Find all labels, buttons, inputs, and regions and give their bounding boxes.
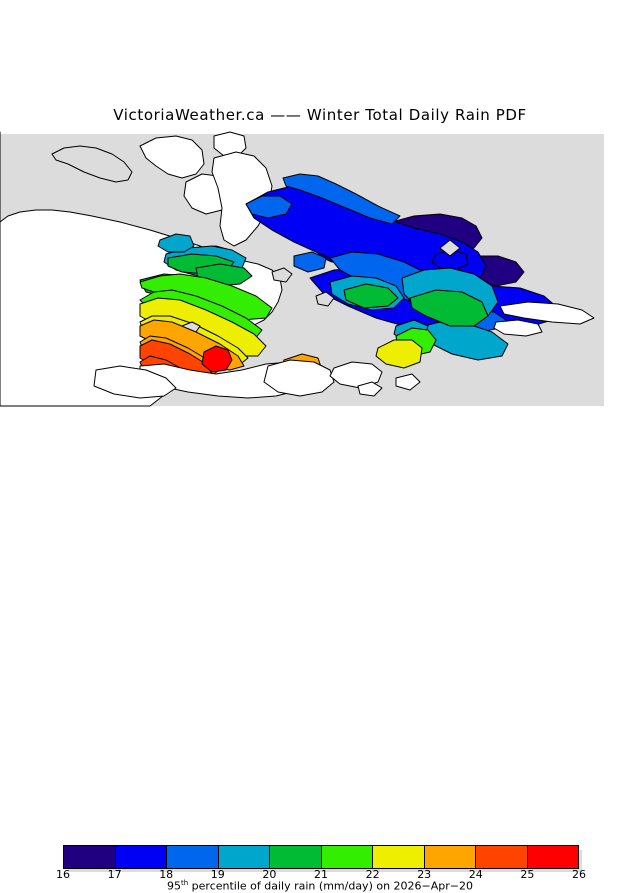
colorbar-bands xyxy=(63,845,579,869)
colorbar-band-23-24 xyxy=(425,846,477,868)
colorbar-band-17-18 xyxy=(116,846,168,868)
colorbar-caption: 95th percentile of daily rain (mm/day) o… xyxy=(0,879,640,893)
colorbar-band-21-22 xyxy=(322,846,374,868)
colorbar-band-22-23 xyxy=(373,846,425,868)
colorbar-band-19-20 xyxy=(219,846,271,868)
island-white-north-c xyxy=(214,132,246,156)
caption-superscript: th xyxy=(181,879,188,887)
colorbar: 1617181920212223242526 95th percentile o… xyxy=(0,420,640,480)
rainfall-contour-map xyxy=(0,130,640,410)
page-title: VictoriaWeather.ca —— Winter Total Daily… xyxy=(0,106,640,124)
colorbar-band-25-26 xyxy=(528,846,579,868)
colorbar-band-20-21 xyxy=(270,846,322,868)
colorbar-band-24-25 xyxy=(476,846,528,868)
colorbar-band-16-17 xyxy=(64,846,116,868)
colorbar-band-18-19 xyxy=(167,846,219,868)
map-plot-area xyxy=(0,130,640,410)
